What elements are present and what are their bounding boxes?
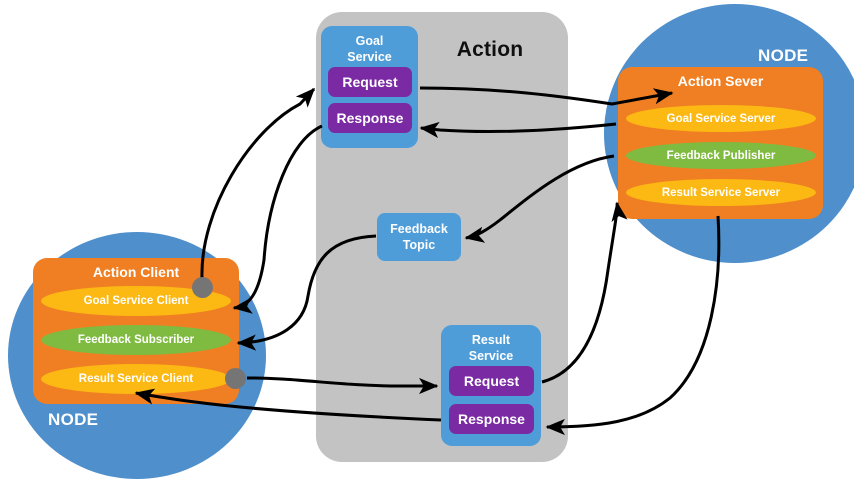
pill-goal-service-server[interactable]: Goal Service Server (626, 105, 816, 132)
action-client-title: Action Client (33, 264, 239, 280)
result-service-request-box[interactable]: Request (449, 366, 534, 396)
goal-service-response-box[interactable]: Response (328, 103, 412, 133)
goal-service-title: Goal Service (321, 33, 418, 65)
connector-dot-result-client (225, 368, 246, 389)
result-service-title-line2: Service (469, 349, 513, 363)
action-server-box: Action Sever Goal Service Server Feedbac… (618, 67, 823, 219)
server-node-label: NODE (758, 46, 808, 66)
goal-service-box: Goal Service Request Response (321, 26, 418, 148)
action-title: Action (430, 38, 550, 62)
feedback-topic-title-line2: Topic (403, 238, 435, 252)
goal-service-title-line2: Service (347, 50, 391, 64)
result-service-title-line1: Result (472, 333, 510, 347)
goal-service-title-line1: Goal (356, 34, 384, 48)
feedback-topic-title-line1: Feedback (390, 222, 448, 236)
pill-result-service-server[interactable]: Result Service Server (626, 179, 816, 206)
result-service-response-box[interactable]: Response (449, 404, 534, 434)
arrow-goal-response-to-client (234, 126, 322, 308)
pill-feedback-publisher[interactable]: Feedback Publisher (626, 142, 816, 169)
connector-dot-goal-client (192, 277, 213, 298)
action-server-title: Action Sever (618, 73, 823, 89)
result-service-box: Result Service Request Response (441, 325, 541, 446)
pill-feedback-subscriber[interactable]: Feedback Subscriber (41, 325, 231, 355)
action-diagram-canvas: Action NODE Action Client Goal Service C… (0, 0, 854, 480)
arrow-goal-client-to-request (202, 89, 314, 278)
feedback-topic-box[interactable]: Feedback Topic (377, 213, 461, 261)
goal-service-request-box[interactable]: Request (328, 67, 412, 97)
client-node-label: NODE (48, 410, 98, 430)
feedback-topic-title: Feedback Topic (390, 221, 448, 253)
pill-result-service-client[interactable]: Result Service Client (41, 364, 231, 394)
result-service-title: Result Service (441, 332, 541, 364)
